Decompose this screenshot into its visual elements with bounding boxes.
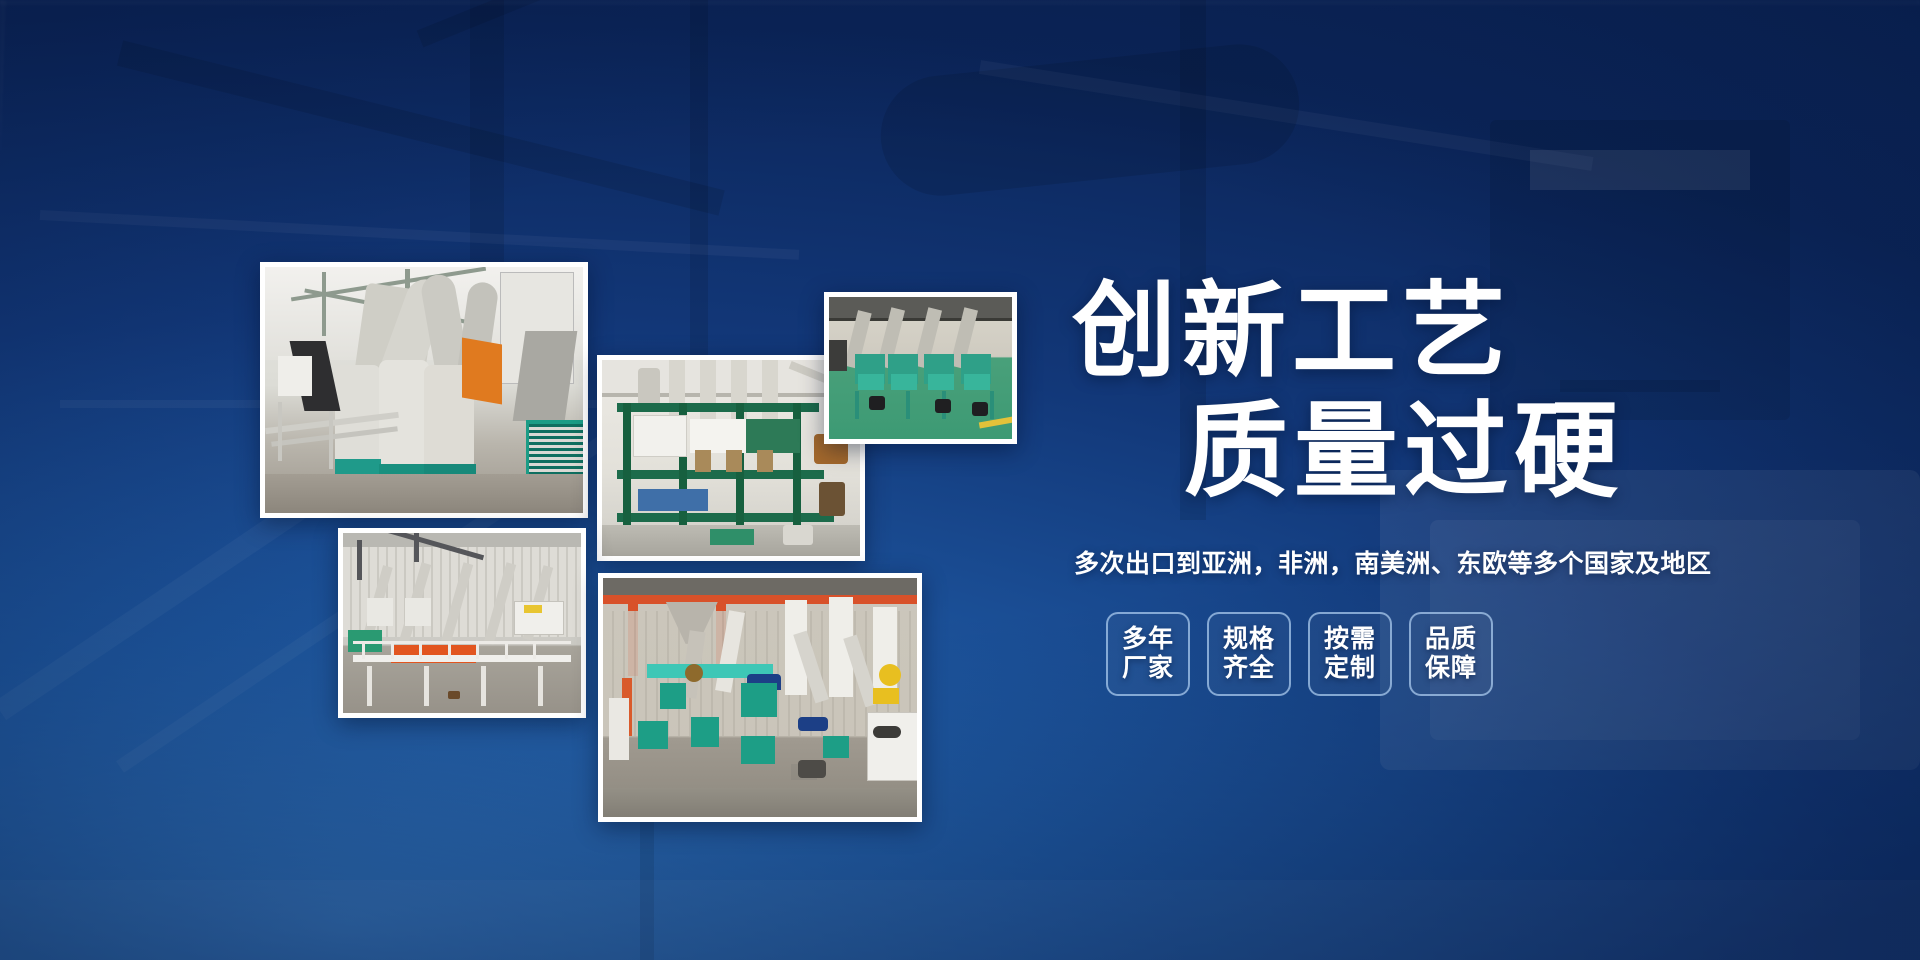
feature-badge-quality-line1: 品质 — [1425, 625, 1477, 655]
photo-grain-cleaning-line — [260, 262, 588, 518]
feature-badge-list: 多年 厂家 规格 齐全 按需 定制 品质 保障 — [1106, 612, 1690, 696]
feature-badge-specs[interactable]: 规格 齐全 — [1207, 612, 1291, 696]
promo-banner: 创新工艺 质量过硬 多次出口到亚洲，非洲，南美洲、东欧等多个国家及地区 多年 厂… — [0, 0, 1920, 960]
feature-badge-custom-line1: 按需 — [1324, 625, 1376, 655]
photo-teal-mill-orange-frame — [598, 573, 922, 822]
feature-badge-years-line2: 厂家 — [1122, 654, 1174, 684]
banner-copy: 创新工艺 质量过硬 多次出口到亚洲，非洲，南美洲、东欧等多个国家及地区 多年 厂… — [1050, 280, 1690, 696]
photo-teal-mills-green-floor — [824, 292, 1017, 444]
feature-badge-quality-line2: 保障 — [1425, 654, 1477, 684]
feature-badge-specs-line2: 齐全 — [1223, 654, 1275, 684]
feature-badge-specs-line1: 规格 — [1223, 625, 1275, 655]
headline-line-2: 质量过硬 — [1184, 400, 1690, 504]
feature-badge-quality[interactable]: 品质 保障 — [1409, 612, 1493, 696]
feature-badge-custom-line2: 定制 — [1324, 654, 1376, 684]
headline-line-1: 创新工艺 — [1072, 280, 1690, 384]
banner-subtitle: 多次出口到亚洲，非洲，南美洲、东欧等多个国家及地区 — [1074, 544, 1690, 580]
feature-badge-years-line1: 多年 — [1122, 625, 1174, 655]
photo-white-orange-machinery-walkway — [338, 528, 586, 718]
feature-badge-years[interactable]: 多年 厂家 — [1106, 612, 1190, 696]
feature-badge-custom[interactable]: 按需 定制 — [1308, 612, 1392, 696]
